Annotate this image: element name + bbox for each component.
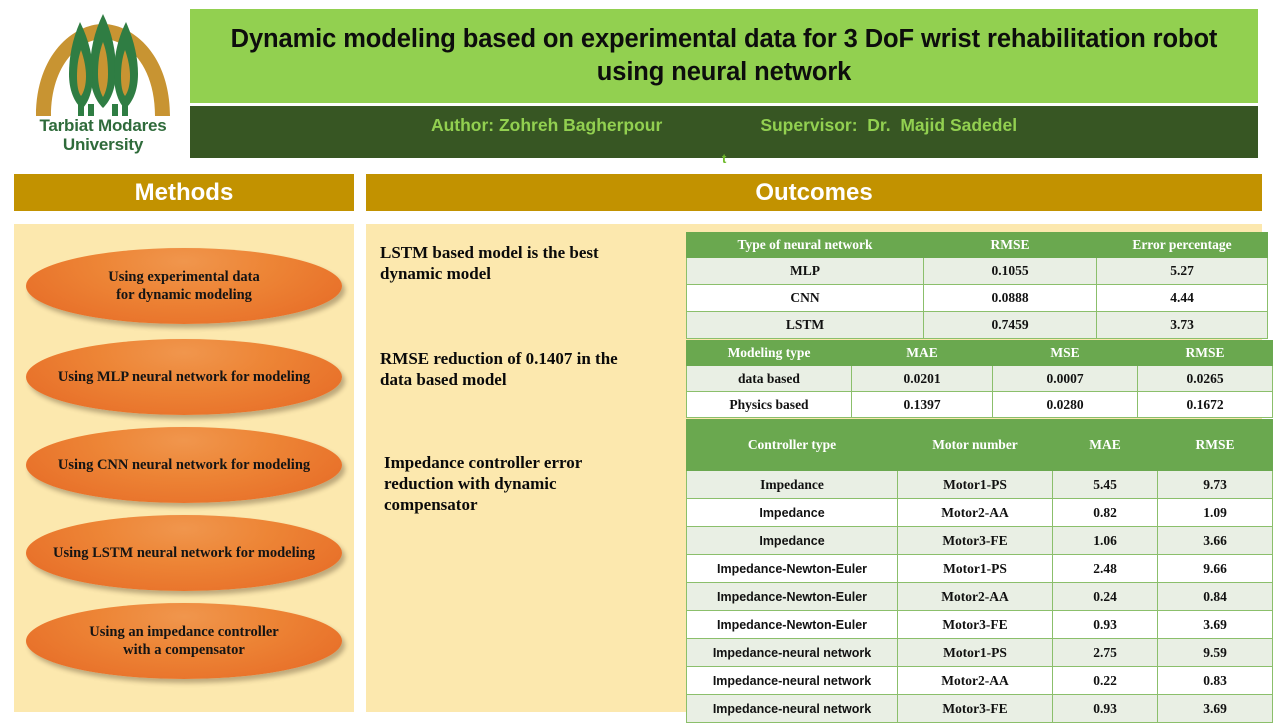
table-cell: Motor1-PS: [898, 471, 1053, 499]
table-cell: Impedance-Newton-Euler: [687, 611, 898, 639]
method-step-label: Using an impedance controller with a com…: [67, 623, 300, 659]
column-header: MAE: [1053, 420, 1158, 471]
column-header: RMSE: [1158, 420, 1273, 471]
outcome-note: Impedance controller error reduction wit…: [384, 452, 684, 515]
table-row: ImpedanceMotor1-PS5.459.73: [687, 471, 1273, 499]
method-step-label: Using experimental data for dynamic mode…: [86, 268, 281, 304]
column-header: Modeling type: [687, 341, 852, 366]
table-cell: 9.66: [1158, 555, 1273, 583]
table-cell: 4.44: [1097, 285, 1268, 312]
table-row: data based0.02010.00070.0265: [687, 366, 1273, 392]
table-cell: Impedance-neural network: [687, 695, 898, 723]
table-cell: 0.0201: [852, 366, 993, 392]
table-cell: 3.69: [1158, 611, 1273, 639]
column-header: Error percentage: [1097, 233, 1268, 258]
method-step-oval: Using experimental data for dynamic mode…: [26, 248, 342, 324]
table-cell: 3.73: [1097, 312, 1268, 339]
outcomes-panel: LSTM based model is the best dynamic mod…: [366, 224, 1262, 712]
table-cell: 0.83: [1158, 667, 1273, 695]
logo-line-2: University: [22, 135, 184, 154]
table-cell: Physics based: [687, 392, 852, 418]
table-row: Impedance-neural networkMotor1-PS2.759.5…: [687, 639, 1273, 667]
table-cell: Impedance: [687, 499, 898, 527]
table-cell: 9.59: [1158, 639, 1273, 667]
table-cell: data based: [687, 366, 852, 392]
table-cell: Impedance-neural network: [687, 639, 898, 667]
column-header: RMSE: [1138, 341, 1273, 366]
table-cell: 0.22: [1053, 667, 1158, 695]
table-cell: 0.0007: [993, 366, 1138, 392]
table-cell: 0.0280: [993, 392, 1138, 418]
table-row: Impedance-neural networkMotor3-FE0.933.6…: [687, 695, 1273, 723]
poster-title: Dynamic modeling based on experimental d…: [190, 23, 1258, 89]
table-cell: 3.69: [1158, 695, 1273, 723]
table-cell: 1.09: [1158, 499, 1273, 527]
column-header: MSE: [993, 341, 1138, 366]
outcomes-section-header: Outcomes: [366, 174, 1262, 211]
table-cell: Motor2-AA: [898, 499, 1053, 527]
table-body: data based0.02010.00070.0265Physics base…: [687, 366, 1273, 418]
table-cell: 0.24: [1053, 583, 1158, 611]
controller-results-table: Controller typeMotor numberMAERMSE Imped…: [686, 419, 1273, 723]
methods-panel: Using experimental data for dynamic mode…: [14, 224, 354, 712]
table-cell: Impedance-neural network: [687, 667, 898, 695]
stray-character: t: [722, 152, 726, 165]
methods-section-title: Methods: [135, 179, 234, 207]
table-cell: CNN: [687, 285, 924, 312]
university-logo-mark: [22, 8, 184, 120]
column-header: Controller type: [687, 420, 898, 471]
table-cell: 1.06: [1053, 527, 1158, 555]
table-cell: 5.27: [1097, 258, 1268, 285]
table-row: LSTM0.74593.73: [687, 312, 1268, 339]
method-step-label: Using LSTM neural network for modeling: [31, 544, 337, 562]
table-cell: Motor1-PS: [898, 555, 1053, 583]
table-cell: Impedance-Newton-Euler: [687, 583, 898, 611]
table-cell: LSTM: [687, 312, 924, 339]
table-cell: 0.1055: [924, 258, 1097, 285]
poster-title-bar: Dynamic modeling based on experimental d…: [190, 9, 1258, 103]
outcome-note: LSTM based model is the best dynamic mod…: [380, 242, 680, 284]
table-body: ImpedanceMotor1-PS5.459.73ImpedanceMotor…: [687, 471, 1273, 723]
table-row: Physics based0.13970.02800.1672: [687, 392, 1273, 418]
table-cell: 2.48: [1053, 555, 1158, 583]
table-header-row: Controller typeMotor numberMAERMSE: [687, 420, 1273, 471]
poster-header: Tarbiat Modares University Dynamic model…: [0, 0, 1280, 168]
column-header: Motor number: [898, 420, 1053, 471]
modeling-type-results-table: Modeling typeMAEMSERMSE data based0.0201…: [686, 340, 1273, 418]
table-cell: Motor3-FE: [898, 695, 1053, 723]
table-row: ImpedanceMotor2-AA0.821.09: [687, 499, 1273, 527]
column-header: Type of neural network: [687, 233, 924, 258]
table-row: Impedance-neural networkMotor2-AA0.220.8…: [687, 667, 1273, 695]
method-step-label: Using MLP neural network for modeling: [36, 368, 332, 386]
table-cell: 2.75: [1053, 639, 1158, 667]
table-cell: Impedance: [687, 471, 898, 499]
table-cell: Impedance-Newton-Euler: [687, 555, 898, 583]
table-cell: Motor3-FE: [898, 527, 1053, 555]
table-cell: 0.0888: [924, 285, 1097, 312]
method-step-label: Using CNN neural network for modeling: [36, 456, 332, 474]
table-cell: 3.66: [1158, 527, 1273, 555]
method-step-oval: Using LSTM neural network for modeling: [26, 515, 342, 591]
table-cell: Motor1-PS: [898, 639, 1053, 667]
table-cell: 0.82: [1053, 499, 1158, 527]
methods-section-header: Methods: [14, 174, 354, 211]
table-cell: 0.93: [1053, 611, 1158, 639]
outcome-note: RMSE reduction of 0.1407 in the data bas…: [380, 348, 680, 390]
table-header-row: Modeling typeMAEMSERMSE: [687, 341, 1273, 366]
neural-network-results-table: Type of neural networkRMSEError percenta…: [686, 232, 1268, 339]
table-header-row: Type of neural networkRMSEError percenta…: [687, 233, 1268, 258]
table-cell: MLP: [687, 258, 924, 285]
table-cell: Motor3-FE: [898, 611, 1053, 639]
university-logo-text: Tarbiat Modares University: [22, 116, 184, 154]
method-step-oval: Using MLP neural network for modeling: [26, 339, 342, 415]
table-cell: 0.84: [1158, 583, 1273, 611]
table-row: MLP0.10555.27: [687, 258, 1268, 285]
university-logo: Tarbiat Modares University: [22, 8, 184, 160]
author-row: Author: Zohreh Bagherpour Supervisor: Dr…: [190, 115, 1258, 136]
table-cell: 9.73: [1158, 471, 1273, 499]
column-header: RMSE: [924, 233, 1097, 258]
table-cell: 5.45: [1053, 471, 1158, 499]
outcomes-section-title: Outcomes: [755, 179, 872, 207]
table-row: Impedance-Newton-EulerMotor1-PS2.489.66: [687, 555, 1273, 583]
table-row: Impedance-Newton-EulerMotor2-AA0.240.84: [687, 583, 1273, 611]
table-cell: Motor2-AA: [898, 667, 1053, 695]
table-row: ImpedanceMotor3-FE1.063.66: [687, 527, 1273, 555]
table-cell: 0.93: [1053, 695, 1158, 723]
table-cell: 0.7459: [924, 312, 1097, 339]
table-row: Impedance-Newton-EulerMotor3-FE0.933.69: [687, 611, 1273, 639]
table-body: MLP0.10555.27CNN0.08884.44LSTM0.74593.73: [687, 258, 1268, 339]
logo-line-1: Tarbiat Modares: [22, 116, 184, 135]
column-header: MAE: [852, 341, 993, 366]
author-name: Author: Zohreh Bagherpour: [431, 115, 662, 136]
supervisor-name: Supervisor: Dr. Majid Sadedel: [760, 115, 1017, 136]
method-step-oval: Using CNN neural network for modeling: [26, 427, 342, 503]
table-cell: 0.0265: [1138, 366, 1273, 392]
table-cell: 0.1397: [852, 392, 993, 418]
table-cell: 0.1672: [1138, 392, 1273, 418]
table-cell: Impedance: [687, 527, 898, 555]
table-row: CNN0.08884.44: [687, 285, 1268, 312]
table-cell: Motor2-AA: [898, 583, 1053, 611]
method-step-oval: Using an impedance controller with a com…: [26, 603, 342, 679]
